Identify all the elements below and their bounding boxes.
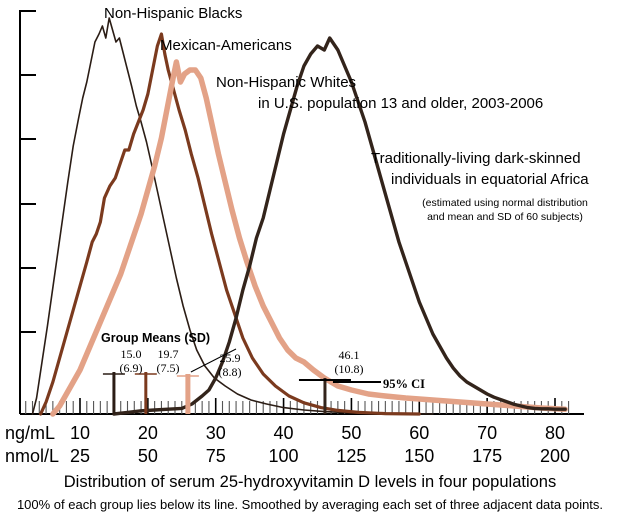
series-note-africa-line2: and mean and SD of 60 subjects) — [415, 211, 595, 223]
series-label-africa-line1: Traditionally-living dark-skinned — [371, 151, 581, 168]
xtick-ngml-30: 30 — [186, 423, 246, 443]
chart-container: Non-Hispanic Blacks Mexican-Americans No… — [0, 0, 620, 529]
mean-sd-mexican: (7.5) — [145, 361, 191, 376]
chart-subtitle: 100% of each group lies below its line. … — [0, 498, 620, 513]
xtick-nmoll-50: 50 — [118, 446, 178, 466]
mean-sd-whites: (8.8) — [207, 365, 253, 380]
xtick-nmoll-175: 175 — [457, 446, 517, 466]
xtick-nmoll-125: 125 — [321, 446, 381, 466]
mean-marker-0 — [103, 372, 125, 414]
group-means-title: Group Means (SD) — [101, 331, 210, 345]
series-note-africa-line1: (estimated using normal distribution — [415, 197, 595, 209]
series-sublabel-us-population: in U.S. population 13 and older, 2003-20… — [258, 96, 543, 113]
xtick-ngml-80: 80 — [525, 423, 585, 443]
xtick-nmoll-150: 150 — [389, 446, 449, 466]
chart-title: Distribution of serum 25-hydroxyvitamin … — [0, 473, 620, 491]
xtick-nmoll-75: 75 — [186, 446, 246, 466]
xtick-ngml-40: 40 — [254, 423, 314, 443]
series-label-mexican-americans: Mexican-Americans — [160, 38, 292, 55]
mean-value-africa: 46.1 — [326, 348, 372, 363]
series-label-africa-line2: individuals in equatorial Africa — [391, 172, 589, 189]
xtick-ngml-20: 20 — [118, 423, 178, 443]
mean-marker-1 — [135, 372, 157, 414]
mean-value-whites: 25.9 — [207, 351, 253, 366]
xtick-nmoll-200: 200 — [525, 446, 585, 466]
xtick-ngml-70: 70 — [457, 423, 517, 443]
mean-marker-3 — [299, 378, 351, 414]
mean-value-mexican: 19.7 — [145, 347, 191, 362]
ci-label: 95% CI — [383, 377, 425, 391]
xtick-nmoll-100: 100 — [254, 446, 314, 466]
xtick-nmoll-25: 25 — [50, 446, 110, 466]
xtick-ngml-50: 50 — [321, 423, 381, 443]
xtick-ngml-10: 10 — [50, 423, 110, 443]
xtick-ngml-60: 60 — [389, 423, 449, 443]
series-label-non-hispanic-whites: Non-Hispanic Whites — [216, 75, 356, 92]
axis-label-ngml: ng/mL — [5, 423, 55, 443]
mean-sd-africa: (10.8) — [326, 362, 372, 377]
series-label-non-hispanic-blacks: Non-Hispanic Blacks — [104, 6, 242, 23]
